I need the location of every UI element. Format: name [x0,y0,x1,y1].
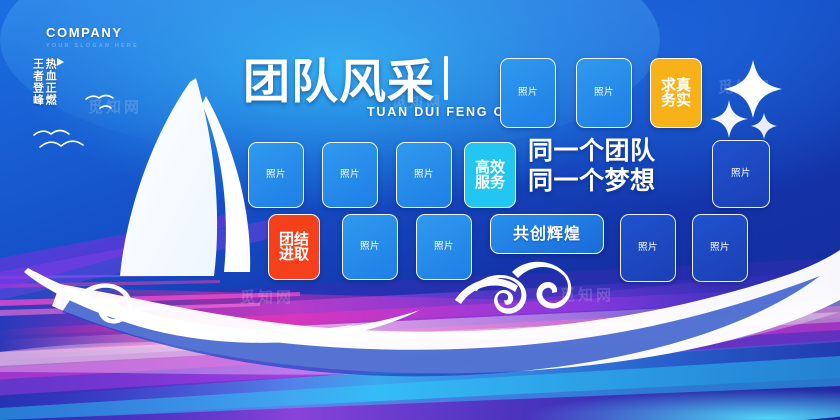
photo-frame-label: 照片 [710,243,730,254]
badge-label: 团结进取 [277,232,311,263]
title-pinyin: TUAN DUI FENG CAI [367,106,521,119]
team-slogan-block: 同一个团队 同一个梦想 [528,136,656,195]
company-slogan: YOUR SLOGAN HERE [46,44,139,50]
photo-frame-label: 照片 [266,170,286,181]
badge-gaoxiao-fuwu[interactable]: 高效服务 [464,142,516,208]
pill-label: 共创辉煌 [513,226,581,242]
chinese-cloud-wave-icon [74,262,571,324]
photo-frame-label: 照片 [434,242,454,253]
photo-frame-r2-c1[interactable]: 照片 [248,142,304,208]
watermark: 觅知网 [240,286,294,307]
photo-frame-r3-c6[interactable]: 照片 [692,214,748,282]
company-name: COMPANY [46,26,139,39]
badge-label: 高效服务 [473,160,507,191]
photo-frame-label: 照片 [518,88,538,99]
photo-frame-r2-c3[interactable]: 照片 [396,142,452,208]
badge-qiuzhen-wushi[interactable]: 求真务实 [650,58,702,128]
team-slogan-line1: 同一个团队 [528,136,656,166]
photo-frame-r1-c1[interactable]: 照片 [500,58,556,128]
photo-frame-r3-c2[interactable]: 照片 [342,214,398,280]
vertical-bar-icon [444,56,448,100]
photo-frame-label: 照片 [731,169,751,180]
brand-block: COMPANY YOUR SLOGAN HERE [46,26,139,50]
badge-tuanjie-jinqu[interactable]: 团结进取 [268,214,320,280]
watermark: 觅知网 [560,284,614,305]
play-triangle-icon [57,58,64,66]
photo-frame-r3-c3[interactable]: 照片 [416,214,472,280]
poster-canvas: 觅知网 觅知网 觅知网 觅知网 觅知网 COMPANY YOUR SLOGAN … [0,0,840,420]
photo-frame-label: 照片 [360,242,380,253]
sailboat-icon [24,78,420,343]
couplet-left-text: 王者登峰 [31,58,43,106]
side-couplet: 王者登峰 热血正燃 [31,58,64,106]
photo-frame-label: 照片 [638,243,658,254]
couplet-right-text: 热血正燃 [44,58,56,106]
photo-frame-r3-c5[interactable]: 照片 [620,214,676,282]
title-main: 团队风采 [243,61,435,105]
team-slogan-line2: 同一个梦想 [528,166,656,196]
badge-label: 求真务实 [659,78,693,109]
photo-frame-r2-c2[interactable]: 照片 [322,142,378,208]
photo-frame-label: 照片 [340,170,360,181]
light-streaks-layer [0,258,840,420]
photo-frame-r1-c2[interactable]: 照片 [576,58,632,128]
watermark: 觅知网 [718,76,772,97]
pill-gongchuang-huihuang[interactable]: 共创辉煌 [490,214,604,254]
watermark: 觅知网 [88,96,142,117]
photo-frame-label: 照片 [414,170,434,181]
page-title: 团队风采 [243,56,448,105]
four-point-star-sparkle-icon [710,60,782,139]
photo-frame-r2-c5[interactable]: 照片 [712,140,770,208]
photo-frame-label: 照片 [594,88,614,99]
